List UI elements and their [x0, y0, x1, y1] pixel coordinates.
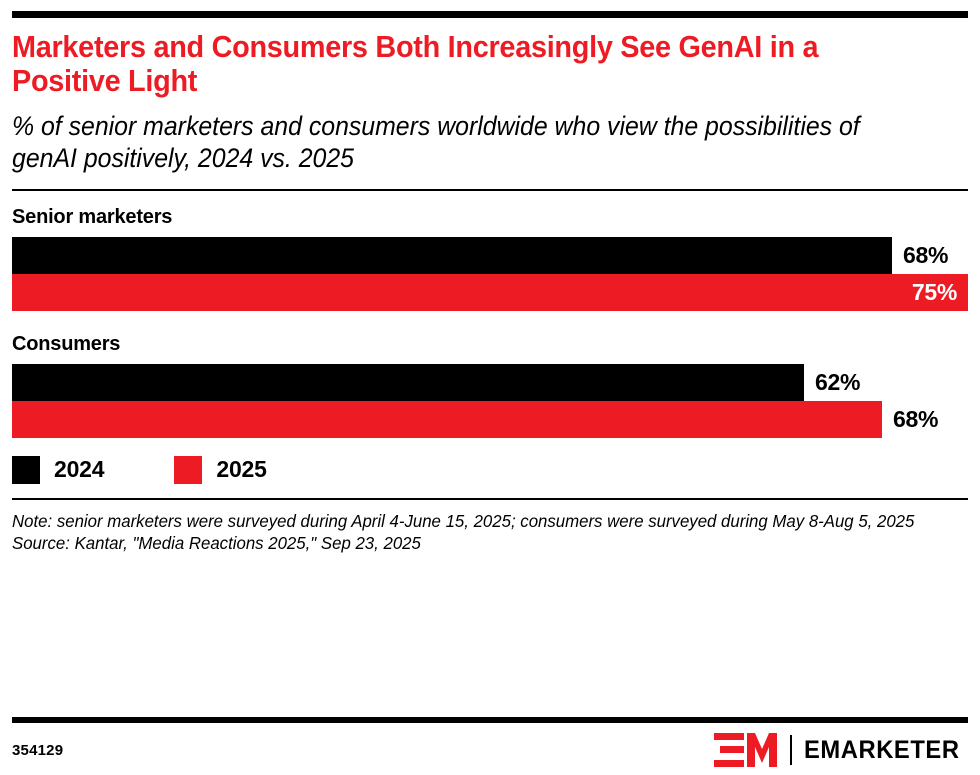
chart-legend: 2024 2025	[12, 456, 968, 484]
legend-item-2024[interactable]: 2024	[12, 456, 104, 484]
bar-group-senior-marketers: Senior marketers 68% 75%	[12, 206, 968, 311]
bar-2025[interactable]	[12, 401, 882, 438]
chart-card: Marketers and Consumers Both Increasingl…	[0, 11, 980, 775]
footer-rule	[12, 717, 968, 723]
legend-item-2025[interactable]: 2025	[174, 456, 266, 484]
legend-swatch-icon	[174, 456, 202, 484]
chart-subtitle: % of senior marketers and consumers worl…	[12, 111, 892, 175]
logo-divider	[790, 735, 792, 765]
chart-plot-area: Senior marketers 68% 75% Consumers 62% 6…	[12, 206, 968, 438]
bar-value-label: 68%	[882, 401, 938, 438]
note-text: Note: senior marketers were surveyed dur…	[12, 510, 930, 532]
bar-value-label: 75%	[912, 281, 968, 304]
bar-value-label: 62%	[804, 364, 860, 401]
bar-row: 68%	[12, 237, 968, 274]
em-monogram-icon	[714, 733, 778, 767]
legend-swatch-icon	[12, 456, 40, 484]
brand-name: EMARKETER	[804, 736, 960, 765]
chart-notes: Note: senior marketers were surveyed dur…	[12, 510, 930, 554]
bar-group-consumers: Consumers 62% 68%	[12, 333, 968, 438]
bar-row: 75%	[12, 274, 968, 311]
chart-title: Marketers and Consumers Both Increasingl…	[12, 30, 901, 98]
bar-value-label: 68%	[892, 237, 948, 274]
notes-divider	[12, 498, 968, 500]
top-rule	[12, 11, 968, 18]
bar-2024[interactable]	[12, 237, 892, 274]
emarketer-logo: EMARKETER	[714, 733, 968, 767]
bar-2024[interactable]	[12, 364, 804, 401]
bar-row: 62%	[12, 364, 968, 401]
source-text: Source: Kantar, "Media Reactions 2025," …	[12, 532, 930, 554]
bar-group-label: Consumers	[12, 333, 968, 356]
chart-id: 354129	[12, 742, 63, 759]
bar-group-label: Senior marketers	[12, 206, 968, 229]
header-divider	[12, 189, 968, 191]
bar-2025[interactable]: 75%	[12, 274, 968, 311]
legend-label: 2025	[216, 456, 266, 483]
legend-label: 2024	[54, 456, 104, 483]
chart-footer: 354129 EMARKETER	[12, 717, 968, 767]
bar-row: 68%	[12, 401, 968, 438]
